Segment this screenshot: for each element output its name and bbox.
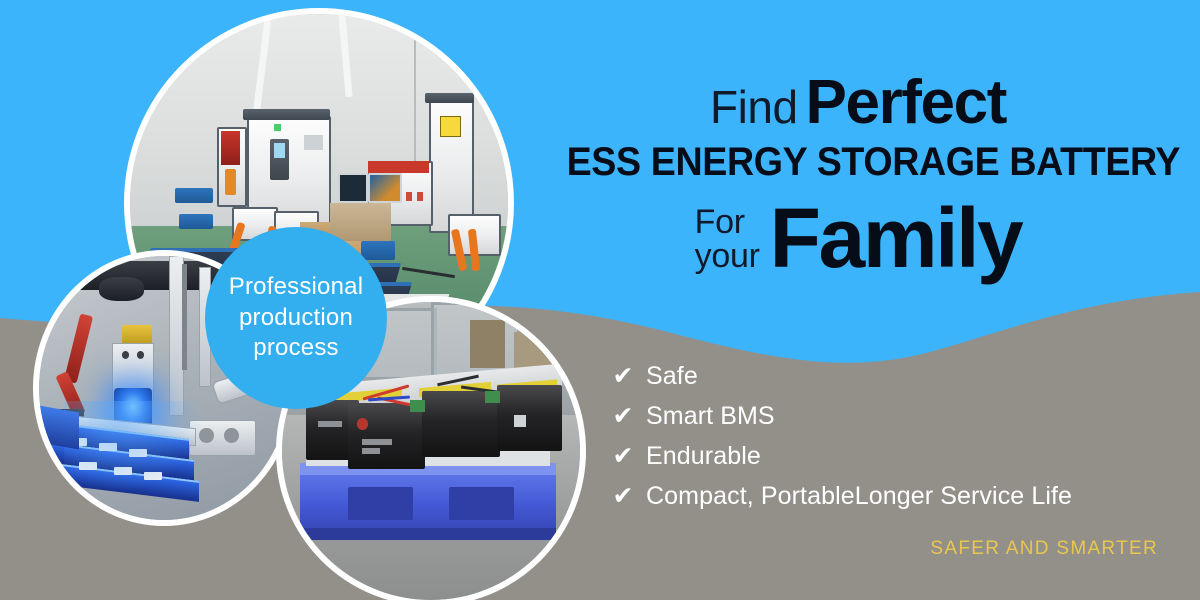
list-item: ✔ Endurable [612, 442, 1072, 471]
feature-label: Compact, PortableLonger Service Life [646, 482, 1072, 511]
for-your-label: For your [695, 205, 760, 273]
feature-label: Safe [646, 362, 698, 391]
feature-label: Endurable [646, 442, 761, 471]
find-label: Find [710, 80, 797, 134]
headline-block: Find Perfect ESS ENERGY STORAGE BATTERY … [548, 72, 1168, 279]
check-icon: ✔ [612, 484, 634, 509]
product-line-label: ESS ENERGY STORAGE BATTERY [567, 140, 1150, 185]
feature-list: ✔ Safe ✔ Smart BMS ✔ Endurable ✔ Compact… [612, 362, 1072, 522]
headline-line-1: Find Perfect [548, 72, 1168, 134]
your-label: your [695, 239, 760, 273]
list-item: ✔ Compact, PortableLonger Service Life [612, 482, 1072, 511]
for-label: For [695, 205, 760, 239]
list-item: ✔ Safe [612, 362, 1072, 391]
check-icon: ✔ [612, 444, 634, 469]
list-item: ✔ Smart BMS [612, 402, 1072, 431]
feature-label: Smart BMS [646, 402, 775, 431]
headline-line-3: For your Family [548, 199, 1168, 279]
check-icon: ✔ [612, 364, 634, 389]
tagline: SAFER AND SMARTER [930, 538, 1158, 560]
professional-process-badge: Professional production process [205, 227, 387, 409]
badge-label: Professional production process [205, 272, 387, 364]
perfect-label: Perfect [806, 72, 1006, 134]
promotional-banner: Professional production process Find Per… [0, 0, 1200, 600]
family-label: Family [770, 199, 1022, 279]
check-icon: ✔ [612, 404, 634, 429]
